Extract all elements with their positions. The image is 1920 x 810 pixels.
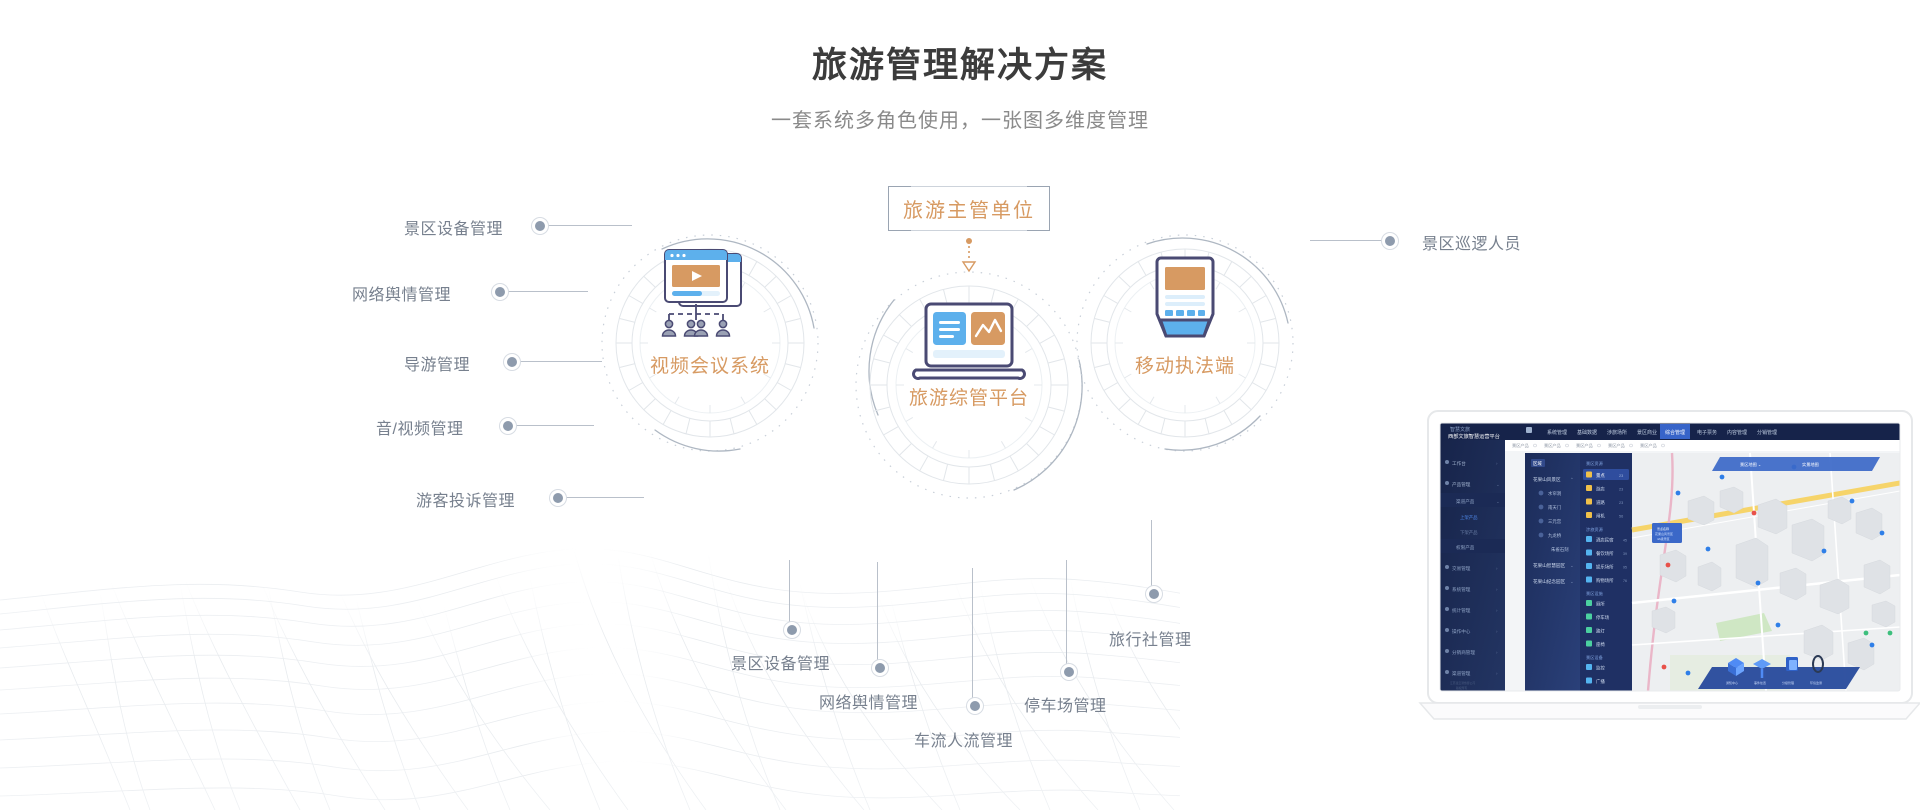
left-connector-dot-3[interactable] <box>500 418 516 434</box>
svg-text:渠道产品: 渠道产品 <box>1456 498 1475 505</box>
svg-text:景区设备: 景区设备 <box>1586 654 1604 661</box>
svg-text:⌄: ⌄ <box>1570 563 1574 568</box>
governing-body-label: 旅游主管单位 <box>903 194 1035 223</box>
svg-text:上架产品: 上架产品 <box>1460 514 1478 521</box>
page-subtitle: 一套系统多角色使用，一张图多维度管理 <box>0 109 1920 133</box>
box-edge-top <box>910 186 1028 187</box>
svg-text:景区商业: 景区商业 <box>1637 429 1657 436</box>
svg-text:三元宫: 三元宫 <box>1548 518 1562 525</box>
bottom-connector-dot-2[interactable] <box>967 698 983 714</box>
page-header: 旅游管理解决方案 一套系统多角色使用，一张图多维度管理 <box>0 0 1920 133</box>
right-connector-dot-0[interactable] <box>1382 233 1398 249</box>
bottom-connector-label-3[interactable]: 停车场管理 <box>1024 692 1107 716</box>
svg-text:电子票务: 电子票务 <box>1697 429 1717 436</box>
svg-text:九龙桥: 九龙桥 <box>1548 532 1562 539</box>
ring-mobile-enforcement[interactable]: 移动执法端 <box>1075 218 1295 468</box>
svg-text:分销商管理: 分销商管理 <box>1452 649 1475 656</box>
laptop-mockup[interactable]: 智慧文旅 西部文旅智慧运营平台 系统管理基础数据 涉旅场所景区商业 综合管理 电… <box>1420 405 1920 725</box>
left-connector-label-0[interactable]: 景区设备管理 <box>404 215 503 239</box>
svg-text:45: 45 <box>1623 539 1627 543</box>
node-label-platform: 旅游综管平台 <box>839 383 1099 410</box>
bottom-connector-line-0 <box>789 560 790 624</box>
svg-text:涉旅场所: 涉旅场所 <box>1607 429 1627 436</box>
left-connector-line-3 <box>516 425 594 426</box>
svg-text:76: 76 <box>1623 579 1627 583</box>
bottom-connector-dot-3[interactable] <box>1061 664 1077 680</box>
svg-text:39: 39 <box>1623 552 1627 556</box>
svg-text:权限产品: 权限产品 <box>1456 544 1475 551</box>
left-connector-dot-0[interactable] <box>532 218 548 234</box>
svg-text:座椅: 座椅 <box>1596 641 1605 648</box>
svg-text:景区地图 ⌄: 景区地图 ⌄ <box>1740 461 1761 468</box>
box-edge-bottom <box>910 230 1028 231</box>
bottom-connector-label-4[interactable]: 旅行社管理 <box>1109 626 1192 650</box>
svg-text:景区资源: 景区资源 <box>1586 460 1604 467</box>
svg-text:购物场所: 购物场所 <box>1596 577 1614 584</box>
bottom-connector-dot-1[interactable] <box>872 660 888 676</box>
svg-text:56: 56 <box>1619 515 1623 519</box>
left-connector-line-1 <box>508 291 588 292</box>
svg-text:监控: 监控 <box>1596 665 1605 672</box>
left-connector-dot-2[interactable] <box>504 354 520 370</box>
svg-text:娱乐场所: 娱乐场所 <box>1596 564 1614 571</box>
svg-text:⌄: ⌄ <box>1570 579 1574 584</box>
svg-text:⌄: ⌄ <box>1496 499 1500 504</box>
svg-text:花果山风景区: 花果山风景区 <box>1533 476 1561 483</box>
bottom-connector-line-4 <box>1151 520 1152 588</box>
node-label-mobile: 移动执法端 <box>1055 351 1315 378</box>
left-connector-line-4 <box>566 497 644 498</box>
svg-text:工作台: 工作台 <box>1452 460 1466 467</box>
svg-text:酒店民宿: 酒店民宿 <box>1596 537 1614 544</box>
svg-text:⌃: ⌃ <box>1570 477 1574 482</box>
svg-text:停车场: 停车场 <box>1596 614 1610 621</box>
left-connector-dot-1[interactable] <box>492 284 508 300</box>
svg-text:南天门: 南天门 <box>1548 504 1561 511</box>
svg-text:23: 23 <box>1619 488 1623 492</box>
svg-text:95: 95 <box>1623 566 1627 570</box>
svg-text:23: 23 <box>1619 474 1623 478</box>
svg-text:实景地图: 实景地图 <box>1802 461 1819 468</box>
left-connector-label-3[interactable]: 音/视频管理 <box>376 415 463 439</box>
svg-text:区域: 区域 <box>1533 460 1542 466</box>
bottom-connector-line-2 <box>972 568 973 700</box>
svg-text:闸机: 闸机 <box>1596 513 1605 520</box>
svg-text:朱雀石刻: 朱雀石刻 <box>1551 546 1569 553</box>
svg-text:花果山纪念园区: 花果山纪念园区 <box>1533 578 1566 585</box>
svg-text:系统管理: 系统管理 <box>1547 429 1567 436</box>
bottom-connector-label-2[interactable]: 车流人流管理 <box>914 727 1013 751</box>
svg-text:系统管理: 系统管理 <box>1452 586 1471 593</box>
svg-text:江苏连云港旅游公司: 江苏连云港旅游公司 <box>1450 681 1475 685</box>
svg-text:通知中心: 通知中心 <box>1726 680 1738 685</box>
svg-text:餐饮场所: 餐饮场所 <box>1596 550 1614 557</box>
svg-text:花果山智慧园区: 花果山智慧园区 <box>1533 562 1566 569</box>
svg-text:下架产品: 下架产品 <box>1460 529 1478 536</box>
right-connector-label-0[interactable]: 景区巡逻人员 <box>1422 230 1521 254</box>
bottom-connector-line-3 <box>1066 560 1067 666</box>
svg-text:景区产品: 景区产品 <box>1576 442 1593 449</box>
left-connector-dot-4[interactable] <box>550 490 566 506</box>
left-connector-label-1[interactable]: 网络舆情管理 <box>352 281 451 305</box>
svg-text:基础数据: 基础数据 <box>1577 429 1597 436</box>
bottom-connector-dot-0[interactable] <box>784 622 800 638</box>
svg-text:环境监测: 环境监测 <box>1810 680 1822 685</box>
svg-text:厕所: 厕所 <box>1596 601 1605 608</box>
svg-text:路灯: 路灯 <box>1596 628 1605 635</box>
svg-text:综合管理: 综合管理 <box>1665 429 1685 436</box>
svg-text:涉旅资源: 涉旅资源 <box>1586 526 1604 533</box>
downward-arrow-icon <box>961 238 977 274</box>
bottom-connector-label-0[interactable]: 景区设备管理 <box>731 650 830 674</box>
svg-text:景点名称: 景点名称 <box>1657 526 1669 531</box>
svg-text:广播: 广播 <box>1596 678 1605 685</box>
svg-text:道路: 道路 <box>1596 499 1605 506</box>
svg-text:统计管理: 统计管理 <box>1452 607 1471 614</box>
left-connector-label-2[interactable]: 导游管理 <box>404 351 470 375</box>
svg-text:景区产品: 景区产品 <box>1640 442 1657 449</box>
svg-text:版权所有: 版权所有 <box>1456 686 1467 690</box>
handheld-device-icon <box>1147 258 1223 340</box>
svg-text:景区产品: 景区产品 <box>1608 442 1625 449</box>
svg-text:⌄: ⌄ <box>1496 482 1500 487</box>
bottom-connector-dot-4[interactable] <box>1146 586 1162 602</box>
bottom-connector-label-1[interactable]: 网络舆情管理 <box>819 689 918 713</box>
svg-text:分销管理: 分销管理 <box>1757 429 1777 436</box>
svg-text:交易管理: 交易管理 <box>1452 565 1471 572</box>
ring-video-conference[interactable]: 视频会议系统 <box>600 218 820 468</box>
svg-text:西部文旅智慧运营平台: 西部文旅智慧运营平台 <box>1448 432 1500 440</box>
svg-text:景区产品: 景区产品 <box>1512 442 1529 449</box>
bottom-connector-line-1 <box>877 562 878 662</box>
svg-text:花果山风景区: 花果山风景区 <box>1655 531 1673 536</box>
solution-diagram-page: 旅游管理解决方案 一套系统多角色使用，一张图多维度管理 旅游主管单位 <box>0 0 1920 810</box>
svg-text:水帘洞: 水帘洞 <box>1548 490 1562 497</box>
ring-tourism-platform[interactable]: 旅游综管平台 <box>854 255 1084 515</box>
laptop-dashboard-icon <box>912 302 1026 386</box>
page-title: 旅游管理解决方案 <box>0 45 1920 87</box>
svg-text:景区设施: 景区设施 <box>1586 590 1604 597</box>
svg-text:23: 23 <box>1619 501 1623 505</box>
svg-text:产品管理: 产品管理 <box>1452 481 1471 488</box>
svg-text:操作中心: 操作中心 <box>1452 628 1471 635</box>
svg-text:分级管理: 分级管理 <box>1782 680 1794 685</box>
node-label-video: 视频会议系统 <box>580 351 840 378</box>
svg-text:内容管理: 内容管理 <box>1727 429 1747 436</box>
svg-text:游店: 游店 <box>1596 486 1605 493</box>
svg-text:景区产品: 景区产品 <box>1544 442 1561 449</box>
governing-body-box[interactable]: 旅游主管单位 <box>888 186 1050 231</box>
right-connector-line-0 <box>1310 240 1386 241</box>
svg-text:智慧文旅: 智慧文旅 <box>1450 426 1470 433</box>
svg-text:渠道管理: 渠道管理 <box>1452 670 1471 677</box>
svg-text:事件处置: 事件处置 <box>1754 680 1766 685</box>
video-conference-icon <box>653 248 767 338</box>
left-connector-label-4[interactable]: 游客投诉管理 <box>416 487 515 511</box>
svg-text:4A级景区: 4A级景区 <box>1657 536 1670 541</box>
